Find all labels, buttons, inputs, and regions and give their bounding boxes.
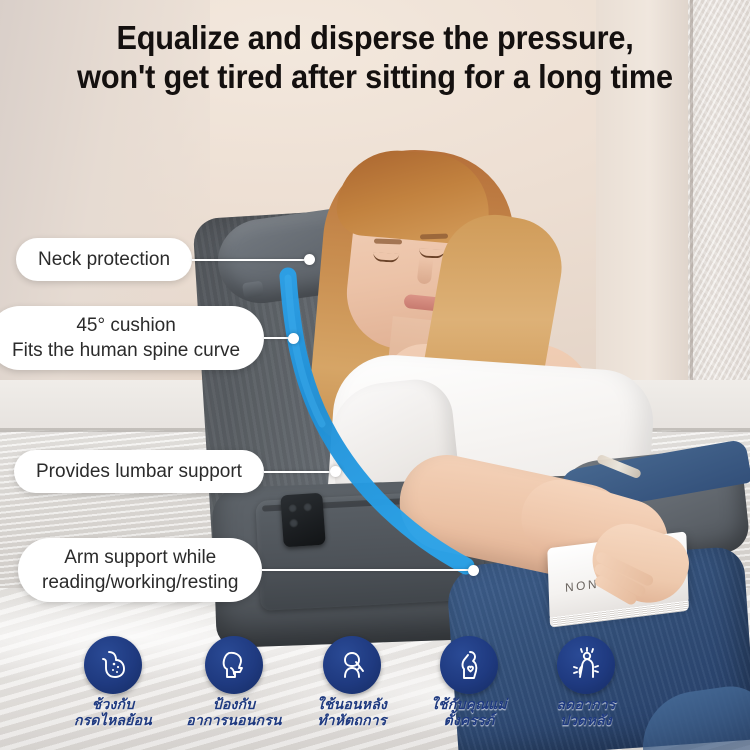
badge-label: ป้องกับ อาการนอนกรน [186, 697, 282, 729]
badge-snoring: ป้องกับ อาการนอนกรน [186, 636, 282, 729]
callout-lumbar-leader-line [264, 471, 330, 473]
badge-label-line-2: ปวดหลัง [538, 713, 634, 729]
badge-back-pain: ลดอาการ ปวดหลัง [538, 636, 634, 729]
callout-arm-label: Arm support while reading/working/restin… [18, 538, 262, 602]
badge-label-line-1: ลดอาการ [538, 697, 634, 713]
callout-45-degree-cushion: 45° cushion Fits the human spine curve [0, 306, 299, 370]
product-marketing-image: MIGNON Equalize and disperse the pressur… [0, 0, 750, 750]
badge-circle [84, 636, 142, 694]
callout-45-leader-line [264, 337, 288, 339]
badge-post-surgery: ใช้นอนหลัง ทำหัตถการ [304, 636, 400, 729]
callout-neck-protection: Neck protection [16, 238, 315, 281]
badge-label-line-1: ใช้นอนหลัง [304, 697, 400, 713]
callout-arm-dot [468, 565, 479, 576]
callout-neck-dot [304, 254, 315, 265]
callout-lumbar-support: Provides lumbar support [14, 450, 341, 493]
headline-line-1: Equalize and disperse the pressure, [26, 18, 724, 57]
badge-circle [323, 636, 381, 694]
callout-arm-leader-line [262, 569, 468, 571]
callout-45-line-2: Fits the human spine curve [12, 338, 240, 363]
badge-pregnancy: ใช้กับคุณแม่ ตั้งครรภ์ [421, 636, 517, 729]
stomach-icon [95, 647, 131, 683]
badge-label-line-2: กรดไหลย้อน [65, 713, 161, 729]
callout-45-line-1: 45° cushion [12, 313, 240, 338]
badge-label: ช้วงกับ กรดไหลย้อน [65, 697, 161, 729]
badge-acid-reflux: ช้วงกับ กรดไหลย้อน [65, 636, 161, 729]
badge-circle [205, 636, 263, 694]
page-title: Equalize and disperse the pressure, won'… [26, 18, 724, 96]
callout-arm-support: Arm support while reading/working/restin… [18, 538, 479, 602]
eyebrow-left [374, 239, 402, 245]
benefit-badge-row: ช้วงกับ กรดไหลย้อน ป้องกับ อาการนอนกรน [0, 636, 750, 750]
badge-label-line-2: ทำหัตถการ [304, 713, 400, 729]
badge-label: ใช้นอนหลัง ทำหัตถการ [304, 697, 400, 729]
cushion-tag [242, 281, 264, 299]
post-surgery-icon [334, 647, 370, 683]
callout-45-dot [288, 333, 299, 344]
badge-label-line-1: ป้องกับ [186, 697, 282, 713]
callout-neck-label: Neck protection [16, 238, 192, 281]
badge-label-line-2: อาการนอนกรน [186, 713, 282, 729]
callout-arm-line-1: Arm support while [42, 545, 238, 570]
back-pain-icon [568, 647, 604, 683]
headline-line-2: won't get tired after sitting for a long… [26, 57, 724, 96]
snoring-head-icon [216, 647, 252, 683]
callout-arm-line-2: reading/working/resting [42, 570, 238, 595]
pregnancy-icon [451, 647, 487, 683]
callout-lumbar-dot [330, 466, 341, 477]
eyebrow-right [420, 234, 448, 240]
badge-label-line-1: ใช้กับคุณแม่ [421, 697, 517, 713]
callout-neck-leader-line [192, 259, 304, 261]
badge-label: ใช้กับคุณแม่ ตั้งครรภ์ [421, 697, 517, 729]
callout-45-label: 45° cushion Fits the human spine curve [0, 306, 264, 370]
callout-lumbar-label: Provides lumbar support [14, 450, 264, 493]
badge-label-line-2: ตั้งครรภ์ [421, 713, 517, 729]
badge-circle [557, 636, 615, 694]
badge-label-line-1: ช้วงกับ [65, 697, 161, 713]
badge-circle [440, 636, 498, 694]
badge-label: ลดอาการ ปวดหลัง [538, 697, 634, 729]
